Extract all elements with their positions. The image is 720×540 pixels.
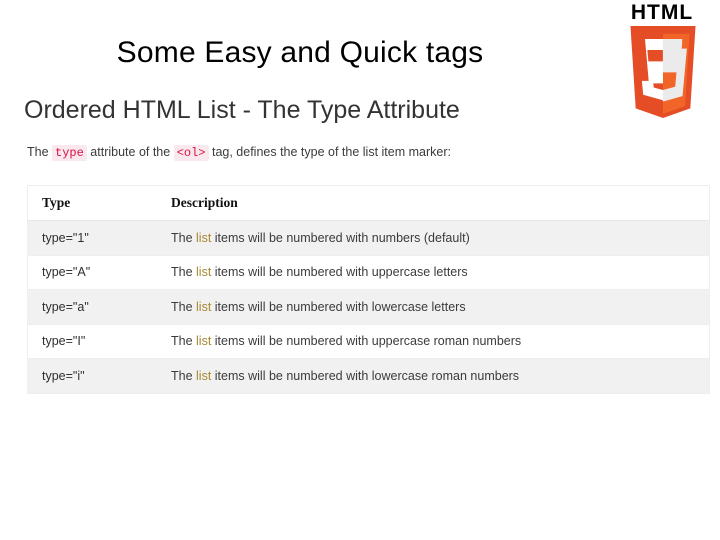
desc-prefix: The <box>171 369 196 383</box>
desc-keyword-list: list <box>196 300 211 314</box>
content-intro-line: The type attribute of the <ol> tag, defi… <box>27 145 451 160</box>
desc-keyword-list: list <box>196 231 211 245</box>
page-title: Some Easy and Quick tags <box>0 36 600 70</box>
code-chip-type: type <box>52 145 87 161</box>
html5-logo: HTML <box>616 2 708 118</box>
content-heading: Ordered HTML List - The Type Attribute <box>24 96 460 125</box>
cell-description: The list items will be numbered with low… <box>157 359 710 394</box>
cell-description: The list items will be numbered with low… <box>157 290 710 325</box>
column-header-type: Type <box>28 186 158 221</box>
cell-type: type="a" <box>28 290 158 325</box>
column-header-description: Description <box>157 186 710 221</box>
table-row: type="1" The list items will be numbered… <box>28 221 710 256</box>
html5-shield-icon <box>630 26 696 118</box>
code-chip-ol-tag: <ol> <box>174 145 209 161</box>
desc-suffix: items will be numbered with uppercase le… <box>211 265 467 279</box>
desc-prefix: The <box>171 300 196 314</box>
cell-type: type="I" <box>28 324 158 359</box>
desc-suffix: items will be numbered with lowercase le… <box>211 300 465 314</box>
desc-keyword-list: list <box>196 334 211 348</box>
table-header: Type Description <box>28 186 710 221</box>
type-attribute-table: Type Description type="1" The list items… <box>27 185 710 394</box>
cell-description: The list items will be numbered with upp… <box>157 255 710 290</box>
cell-type: type="i" <box>28 359 158 394</box>
desc-keyword-list: list <box>196 369 211 383</box>
html5-wordmark-text: HTML <box>616 2 708 24</box>
cell-description: The list items will be numbered with num… <box>157 221 710 256</box>
intro-text-part3: tag, defines the type of the list item m… <box>209 145 451 159</box>
desc-suffix: items will be numbered with uppercase ro… <box>211 334 521 348</box>
table-row: type="a" The list items will be numbered… <box>28 290 710 325</box>
desc-suffix: items will be numbered with lowercase ro… <box>211 369 519 383</box>
desc-prefix: The <box>171 231 196 245</box>
cell-description: The list items will be numbered with upp… <box>157 324 710 359</box>
cell-type: type="1" <box>28 221 158 256</box>
table-row: type="A" The list items will be numbered… <box>28 255 710 290</box>
table-row: type="i" The list items will be numbered… <box>28 359 710 394</box>
table-row: type="I" The list items will be numbered… <box>28 324 710 359</box>
intro-text-part1: The <box>27 145 52 159</box>
desc-prefix: The <box>171 334 196 348</box>
table-body: type="1" The list items will be numbered… <box>28 221 710 394</box>
cell-type: type="A" <box>28 255 158 290</box>
desc-prefix: The <box>171 265 196 279</box>
desc-keyword-list: list <box>196 265 211 279</box>
table-header-row: Type Description <box>28 186 710 221</box>
desc-suffix: items will be numbered with numbers (def… <box>211 231 469 245</box>
intro-text-part2: attribute of the <box>87 145 174 159</box>
